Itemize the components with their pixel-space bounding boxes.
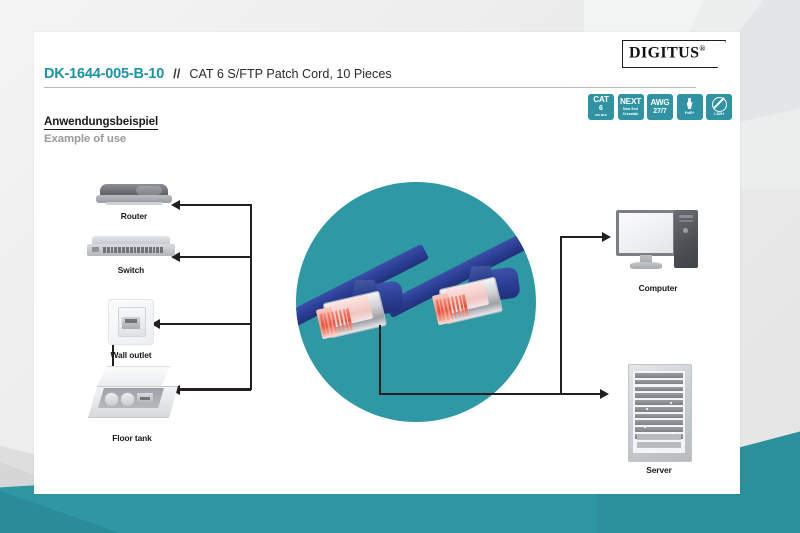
server-icon bbox=[628, 364, 690, 460]
router-icon bbox=[96, 184, 172, 206]
cat6-badge: CAT 6 250 MHz bbox=[588, 94, 614, 120]
no-halogen-icon bbox=[712, 97, 727, 112]
switch-icon bbox=[87, 236, 175, 260]
awg-badge: AWG 27/7 bbox=[647, 94, 673, 120]
device-computer: Computer bbox=[612, 210, 704, 293]
awg-badge-line2: 27/7 bbox=[653, 108, 667, 115]
right-drop-line bbox=[379, 325, 381, 394]
cat6-badge-line3: 250 MHz bbox=[595, 114, 607, 118]
poe-badge: PoE+ bbox=[677, 94, 703, 120]
floor-tank-icon bbox=[86, 366, 178, 428]
device-label-wall-outlet: Wall outlet bbox=[84, 350, 178, 360]
arrow-head-server bbox=[600, 389, 609, 399]
cat6-badge-line1: CAT bbox=[593, 96, 609, 104]
computer-icon bbox=[616, 210, 700, 278]
section-heading: Anwendungsbeispiel Example of use bbox=[44, 112, 158, 145]
connector-pins bbox=[435, 294, 469, 325]
application-diagram: Router Switch Wall out bbox=[34, 142, 740, 494]
poe-badge-caption: PoE+ bbox=[685, 112, 694, 116]
next-badge: NEXT Near End Crosstalk bbox=[618, 94, 644, 120]
logo-wordmark: DIGITUS® bbox=[629, 44, 706, 62]
device-label-server: Server bbox=[623, 465, 695, 475]
connector-pins bbox=[319, 308, 353, 339]
device-label-computer: Computer bbox=[612, 283, 704, 293]
header: DK-1644-005-B-10 // CAT 6 S/FTP Patch Co… bbox=[44, 66, 696, 88]
arrow-line-router bbox=[180, 204, 251, 206]
arrow-line-switch bbox=[180, 256, 251, 258]
digitus-logo: DIGITUS® bbox=[622, 40, 726, 68]
next-badge-line3: Near End Crosstalk bbox=[619, 107, 643, 116]
device-server: Server bbox=[623, 364, 695, 475]
device-router: Router bbox=[88, 184, 180, 221]
device-label-switch: Switch bbox=[82, 265, 180, 275]
header-divider bbox=[44, 87, 696, 88]
right-computer-vertical bbox=[560, 236, 562, 394]
header-separator: // bbox=[173, 66, 180, 81]
left-bus-vertical bbox=[250, 204, 252, 390]
device-switch: Switch bbox=[82, 236, 180, 275]
slide-canvas: DIGITUS® DK-1644-005-B-10 // CAT 6 S/FTP… bbox=[0, 0, 800, 533]
server-bays bbox=[635, 373, 683, 439]
lszh-badge-caption: LSZH bbox=[714, 113, 724, 117]
next-badge-line1: NEXT bbox=[620, 98, 641, 106]
patch-cord-image bbox=[296, 182, 536, 422]
device-floor-tank: Floor tank bbox=[84, 366, 180, 443]
right-server-line bbox=[379, 393, 602, 395]
content-card: DIGITUS® DK-1644-005-B-10 // CAT 6 S/FTP… bbox=[34, 32, 740, 494]
device-label-floor-tank: Floor tank bbox=[84, 433, 180, 443]
arrow-head-computer bbox=[602, 232, 611, 242]
header-line: DK-1644-005-B-10 // CAT 6 S/FTP Patch Co… bbox=[44, 66, 696, 87]
feature-badges: CAT 6 250 MHz NEXT Near End Crosstalk AW… bbox=[588, 94, 732, 120]
poe-plug-icon bbox=[686, 98, 693, 110]
registered-mark-icon: ® bbox=[699, 44, 705, 53]
device-wall-outlet: Wall outlet bbox=[84, 299, 178, 360]
awg-badge-line1: AWG bbox=[651, 99, 670, 107]
product-code: DK-1644-005-B-10 bbox=[44, 66, 164, 82]
wall-outlet-icon bbox=[108, 299, 154, 345]
section-heading-de: Anwendungsbeispiel bbox=[44, 115, 158, 130]
right-computer-line bbox=[560, 236, 604, 238]
arrow-line-floor-tank bbox=[180, 389, 251, 391]
cat6-badge-line2: 6 bbox=[599, 105, 603, 112]
product-description: CAT 6 S/FTP Patch Cord, 10 Pieces bbox=[189, 67, 391, 81]
logo-text: DIGITUS bbox=[629, 44, 699, 61]
device-label-router: Router bbox=[88, 211, 180, 221]
lszh-badge: LSZH bbox=[706, 94, 732, 120]
